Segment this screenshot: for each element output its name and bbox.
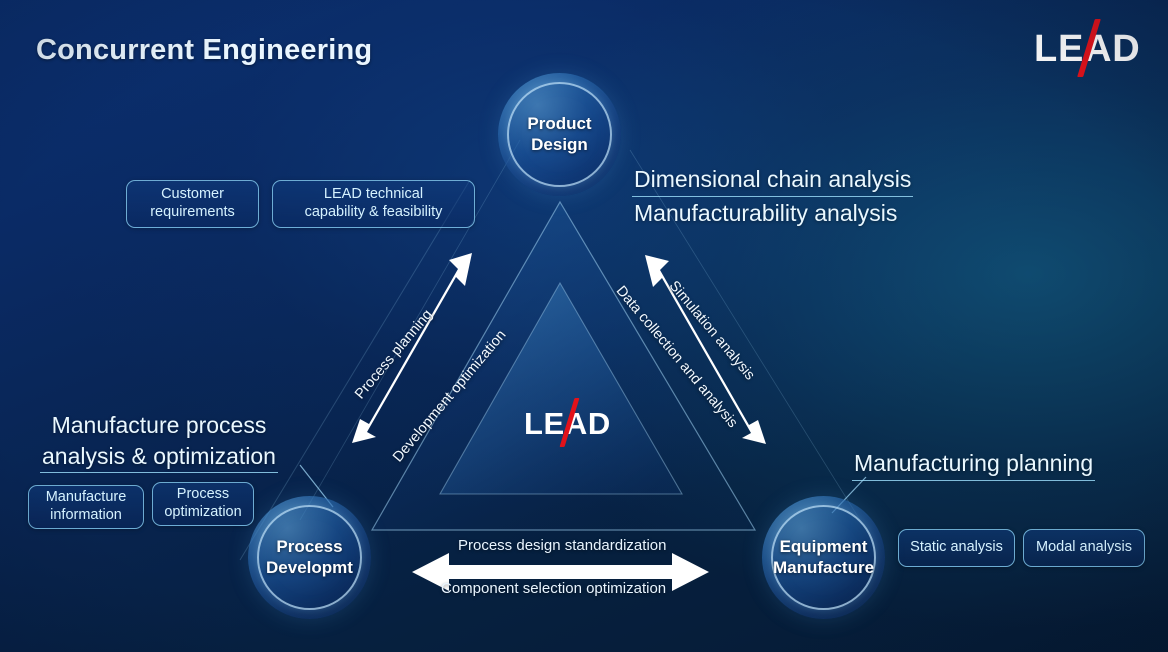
headline-divider xyxy=(40,472,278,473)
pill-text: LEAD technical capability & feasibility xyxy=(305,186,443,221)
pill-text: Manufacture information xyxy=(46,489,127,524)
node-label-line1: Product xyxy=(527,114,591,133)
headline-left: Manufacture process analysis & optimizat… xyxy=(40,410,278,474)
pill-line1: Manufacture xyxy=(46,489,127,505)
caption-component-selection-optimization: Component selection optimization xyxy=(441,580,666,597)
node-label-line2: Developmt xyxy=(266,558,353,577)
pill-customer-requirements[interactable]: Customer requirements xyxy=(126,180,259,228)
headline-top-right: Dimensional chain analysis Manufacturabi… xyxy=(632,164,913,228)
pill-line1: Modal analysis xyxy=(1036,539,1132,557)
node-equipment-manufacture[interactable]: Equipment Manufacture xyxy=(762,496,885,619)
caption-process-design-standardization: Process design standardization xyxy=(458,537,666,554)
headline-right: Manufacturing planning xyxy=(852,448,1095,482)
headline-text: analysis & optimization xyxy=(40,441,278,472)
pill-line2: capability & feasibility xyxy=(305,204,443,220)
slide-canvas: Concurrent Engineering LEAD LEAD Product… xyxy=(0,0,1168,652)
pill-static-analysis[interactable]: Static analysis xyxy=(898,529,1015,567)
headline-divider xyxy=(852,480,1095,481)
node-label-line1: Process xyxy=(276,537,342,556)
pill-line2: information xyxy=(50,507,122,523)
pill-line2: requirements xyxy=(150,204,235,220)
headline-divider xyxy=(632,196,913,197)
node-label-line2: Manufacture xyxy=(773,558,874,577)
node-label-line2: Design xyxy=(531,135,588,154)
pill-text: Customer requirements xyxy=(150,186,235,221)
pill-text: Process optimization xyxy=(164,486,241,521)
lead-logo-header: LEAD xyxy=(1034,25,1134,71)
headline-text: Manufacturing planning xyxy=(852,448,1095,479)
node-process-development[interactable]: Process Developmt xyxy=(248,496,371,619)
page-title: Concurrent Engineering xyxy=(36,34,372,67)
node-label: Process Developmt xyxy=(260,537,359,578)
node-label-line1: Equipment xyxy=(780,537,868,556)
pill-process-optimization[interactable]: Process optimization xyxy=(152,482,254,526)
node-product-design[interactable]: Product Design xyxy=(498,73,621,196)
pill-lead-technical[interactable]: LEAD technical capability & feasibility xyxy=(272,180,475,228)
pill-line1: Customer xyxy=(161,186,224,202)
pill-line1: Process xyxy=(177,486,229,502)
pill-modal-analysis[interactable]: Modal analysis xyxy=(1023,529,1145,567)
pill-line1: Static analysis xyxy=(910,539,1003,557)
pill-line1: LEAD technical xyxy=(324,186,423,202)
headline-text: Dimensional chain analysis xyxy=(632,164,913,195)
headline-text: Manufacturability analysis xyxy=(632,198,913,229)
node-label: Product Design xyxy=(521,114,597,155)
node-label: Equipment Manufacture xyxy=(767,537,880,578)
pill-manufacture-information[interactable]: Manufacture information xyxy=(28,485,144,529)
headline-text: Manufacture process xyxy=(40,410,278,441)
lead-logo-center: LEAD xyxy=(524,404,608,442)
pill-line2: optimization xyxy=(164,504,241,520)
